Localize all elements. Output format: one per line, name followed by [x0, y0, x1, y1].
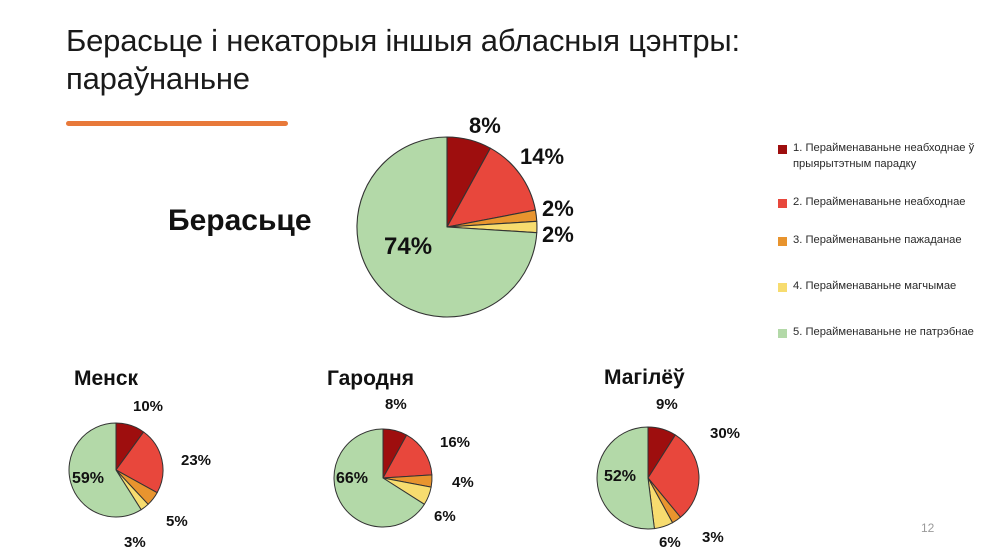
pie-label-hrodna-4: 6% — [434, 508, 456, 525]
pie-label-hrodna-2: 16% — [440, 434, 470, 451]
pie-label-brest-3: 2% — [542, 196, 574, 222]
pie-label-brest-2: 14% — [520, 144, 564, 170]
page-title: Берасьце і некаторыя іншыя абласныя цэнт… — [66, 22, 856, 99]
pie-label-mahilyow-5: 52% — [604, 468, 636, 486]
pie-label-mahilyow-1: 9% — [656, 396, 678, 413]
legend-label-2: 2. Перайменаваньне неабходнае — [793, 195, 966, 211]
pie-label-hrodna-3: 4% — [452, 474, 474, 491]
pie-title-minsk: Менск — [74, 367, 138, 391]
pie-label-hrodna-5: 66% — [336, 470, 368, 488]
legend-swatch-1-icon — [778, 145, 787, 154]
pie-label-mahilyow-2: 30% — [710, 425, 740, 442]
legend-item-3[interactable]: 3. Перайменаваньне пажаданае — [778, 233, 988, 249]
pie-label-mahilyow-4: 6% — [659, 534, 681, 551]
legend-swatch-4-icon — [778, 283, 787, 292]
legend-label-1: 1. Перайменаваньне неабходнае ў прыярытэ… — [793, 141, 988, 173]
legend-item-5[interactable]: 5. Перайменаваньне не патрэбнае — [778, 325, 988, 341]
legend-item-2[interactable]: 2. Перайменаваньне неабходнае — [778, 195, 988, 211]
slide-canvas: Берасьце і некаторыя іншыя абласныя цэнт… — [0, 0, 1000, 560]
title-accent-rule — [66, 121, 288, 126]
legend-item-1[interactable]: 1. Перайменаваньне неабходнае ў прыярытэ… — [778, 141, 988, 173]
pie-title-hrodna: Гародня — [327, 367, 414, 391]
legend-item-4[interactable]: 4. Перайменаваньне магчымае — [778, 279, 988, 295]
pie-label-minsk-5: 59% — [72, 470, 104, 488]
pie-label-minsk-2: 23% — [181, 452, 211, 469]
page-number: 12 — [921, 521, 934, 535]
legend-swatch-2-icon — [778, 199, 787, 208]
legend-swatch-5-icon — [778, 329, 787, 338]
legend-label-5: 5. Перайменаваньне не патрэбнае — [793, 325, 974, 341]
pie-label-brest-5: 74% — [384, 233, 432, 261]
pie-label-brest-4: 2% — [542, 222, 574, 248]
pie-title-brest: Берасьце — [168, 204, 312, 238]
legend-label-4: 4. Перайменаваньне магчымае — [793, 279, 956, 295]
legend-swatch-3-icon — [778, 237, 787, 246]
chart-legend: 1. Перайменаваньне неабходнае ў прыярытэ… — [778, 141, 988, 340]
pie-svg-brest — [355, 135, 539, 319]
pie-chart-brest — [355, 135, 539, 319]
legend-label-3: 3. Перайменаваньне пажаданае — [793, 233, 962, 249]
pie-label-minsk-1: 10% — [133, 398, 163, 415]
pie-label-minsk-4: 3% — [124, 534, 146, 551]
pie-title-mahilyow: Магілёў — [604, 366, 685, 390]
pie-label-hrodna-1: 8% — [385, 396, 407, 413]
pie-label-mahilyow-3: 3% — [702, 529, 724, 546]
pie-label-minsk-3: 5% — [166, 513, 188, 530]
pie-label-brest-1: 8% — [469, 113, 501, 139]
